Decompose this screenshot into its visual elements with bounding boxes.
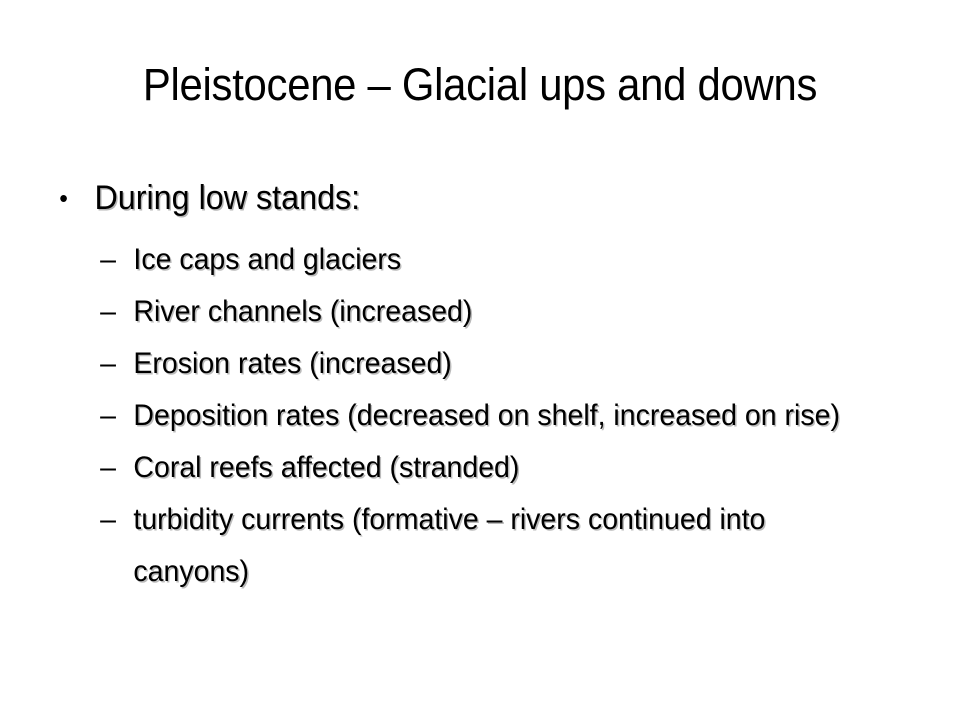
bullet-level2-deposition-rates: – Deposition rates (decreased on shelf, … [46, 390, 882, 442]
bullet-dash-icon: – [100, 442, 116, 494]
bullet-level2-label: Erosion rates (increased) [133, 338, 882, 390]
bullet-level2-ice-caps: – Ice caps and glaciers [46, 234, 882, 286]
bullet-dash-icon: – [100, 494, 116, 546]
bullet-dash-icon: – [100, 338, 116, 390]
bullet-level1-during-low-stands: • During low stands: [46, 176, 882, 220]
bullet-level2-turbidity-currents: – turbidity currents (formative – rivers… [46, 494, 882, 598]
bullet-level2-label: Deposition rates (decreased on shelf, in… [133, 390, 882, 442]
slide-body-placeholder: • During low stands: – Ice caps and glac… [46, 176, 926, 598]
bullet-dot-icon: • [59, 176, 68, 220]
bullet-dash-icon: – [100, 390, 116, 442]
bullet-level2-label: Coral reefs affected (stranded) [133, 442, 882, 494]
bullet-dash-icon: – [100, 286, 116, 338]
bullet-dash-icon: – [100, 234, 116, 286]
slide-title-placeholder: Pleistocene – Glacial ups and downs [60, 58, 900, 112]
bullet-level2-label: Ice caps and glaciers [133, 234, 882, 286]
bullet-level2-coral-reefs: – Coral reefs affected (stranded) [46, 442, 882, 494]
bullet-level2-label: River channels (increased) [133, 286, 882, 338]
presentation-slide: Pleistocene – Glacial ups and downs • Du… [0, 0, 960, 720]
bullet-level2-river-channels: – River channels (increased) [46, 286, 882, 338]
bullet-level1-label: During low stands: [94, 179, 360, 217]
page-title: Pleistocene – Glacial ups and downs [89, 58, 870, 112]
bullet-level2-erosion-rates: – Erosion rates (increased) [46, 338, 882, 390]
bullet-level2-label: turbidity currents (formative – rivers c… [133, 494, 882, 598]
